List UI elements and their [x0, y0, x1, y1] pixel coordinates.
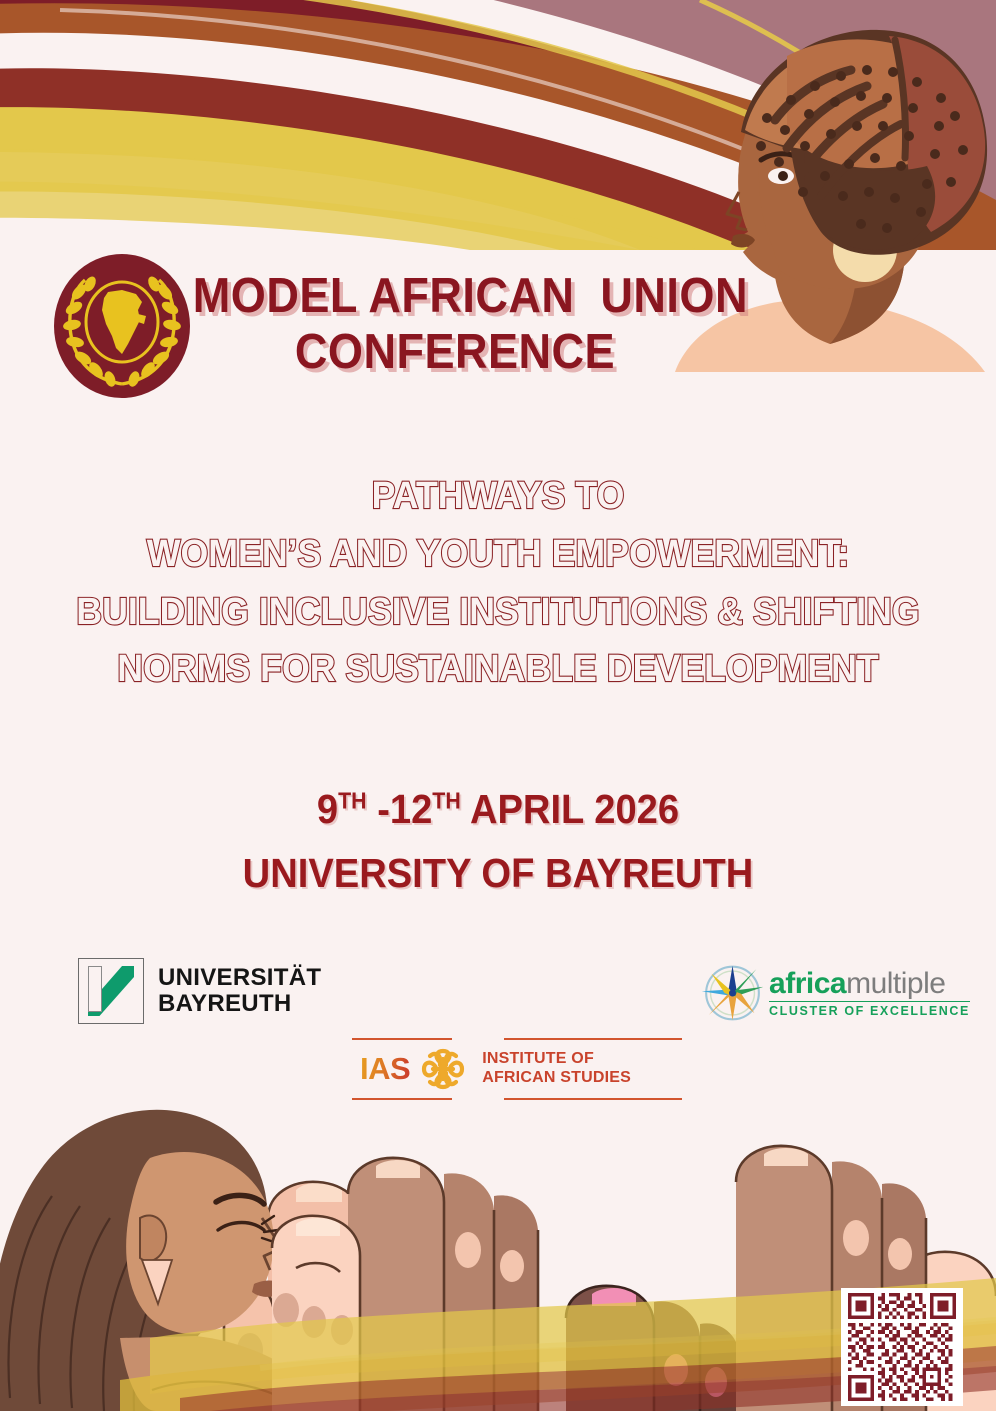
poster-subtitle: PATHWAYS TO WOMEN’S AND YOUTH EMPOWERMEN… — [67, 468, 928, 699]
conference-poster: MODEL AFRICAN UNION CONFERENCE PATHWAYS … — [0, 0, 996, 1411]
africa-multiple-text: africamultiple CLUSTER OF EXCELLENCE — [769, 969, 970, 1018]
subtitle-line-4: NORMS FOR SUSTAINABLE DEVELOPMENT — [67, 641, 928, 699]
bayreuth-mark-icon — [78, 958, 144, 1024]
date-day-end: 12 — [390, 786, 432, 832]
subtitle-line-3: BUILDING INCLUSIVE INSTITUTIONS & SHIFTI… — [67, 584, 928, 642]
poster-main-title: MODEL AFRICAN UNION CONFERENCE — [193, 268, 717, 381]
title-line-1: MODEL AFRICAN UNION — [193, 269, 748, 323]
ias-rule-top — [352, 1038, 682, 1040]
date-suffix-start: TH — [338, 787, 366, 813]
title-line-2: CONFERENCE — [295, 325, 615, 379]
african-union-emblem-icon — [52, 252, 192, 400]
logo-institute-of-african-studies: IAS INSTITUTE OF AFRICAN S — [352, 1038, 682, 1100]
ias-name-line-2: AFRICAN STUDIES — [482, 1069, 631, 1088]
subtitle-line-1: PATHWAYS TO — [67, 468, 928, 526]
ias-full-name: INSTITUTE OF AFRICAN STUDIES — [482, 1050, 631, 1088]
date-month-year: APRIL 2026 — [461, 786, 679, 832]
qr-code-image[interactable] — [846, 1293, 958, 1401]
logo-universitaet-bayreuth: UNIVERSITÄT BAYREUTH — [78, 952, 348, 1030]
multiple-word: multiple — [846, 967, 945, 1000]
compass-rose-icon — [700, 958, 765, 1028]
date-suffix-end: TH — [432, 787, 460, 813]
africa-multiple-wordmark: africamultiple — [769, 969, 970, 999]
conference-qr-code[interactable] — [841, 1288, 963, 1406]
bayreuth-line-2: BAYREUTH — [158, 991, 321, 1017]
date-and-venue: 9TH -12TH APRIL 2026 UNIVERSITY OF BAYRE… — [72, 778, 924, 905]
bayreuth-wordmark: UNIVERSITÄT BAYREUTH — [158, 965, 321, 1017]
conference-venue: UNIVERSITY OF BAYREUTH — [72, 842, 924, 906]
africa-multiple-tagline: CLUSTER OF EXCELLENCE — [769, 1005, 970, 1018]
africa-multiple-divider — [769, 1001, 970, 1002]
bayreuth-vertical-bar — [88, 966, 102, 1012]
date-dash: - — [367, 786, 390, 832]
logo-africa-multiple: africamultiple CLUSTER OF EXCELLENCE — [700, 956, 970, 1030]
ias-name-line-1: INSTITUTE OF — [482, 1050, 631, 1069]
bayreuth-line-1: UNIVERSITÄT — [158, 965, 321, 991]
date-day-start: 9 — [317, 786, 338, 832]
africa-word: africa — [769, 967, 846, 1000]
adinkra-ornament-icon — [418, 1045, 468, 1093]
conference-date: 9TH -12TH APRIL 2026 — [72, 778, 924, 842]
subtitle-line-2: WOMEN’S AND YOUTH EMPOWERMENT: — [67, 526, 928, 584]
ias-abbreviation: IAS — [360, 1051, 410, 1087]
